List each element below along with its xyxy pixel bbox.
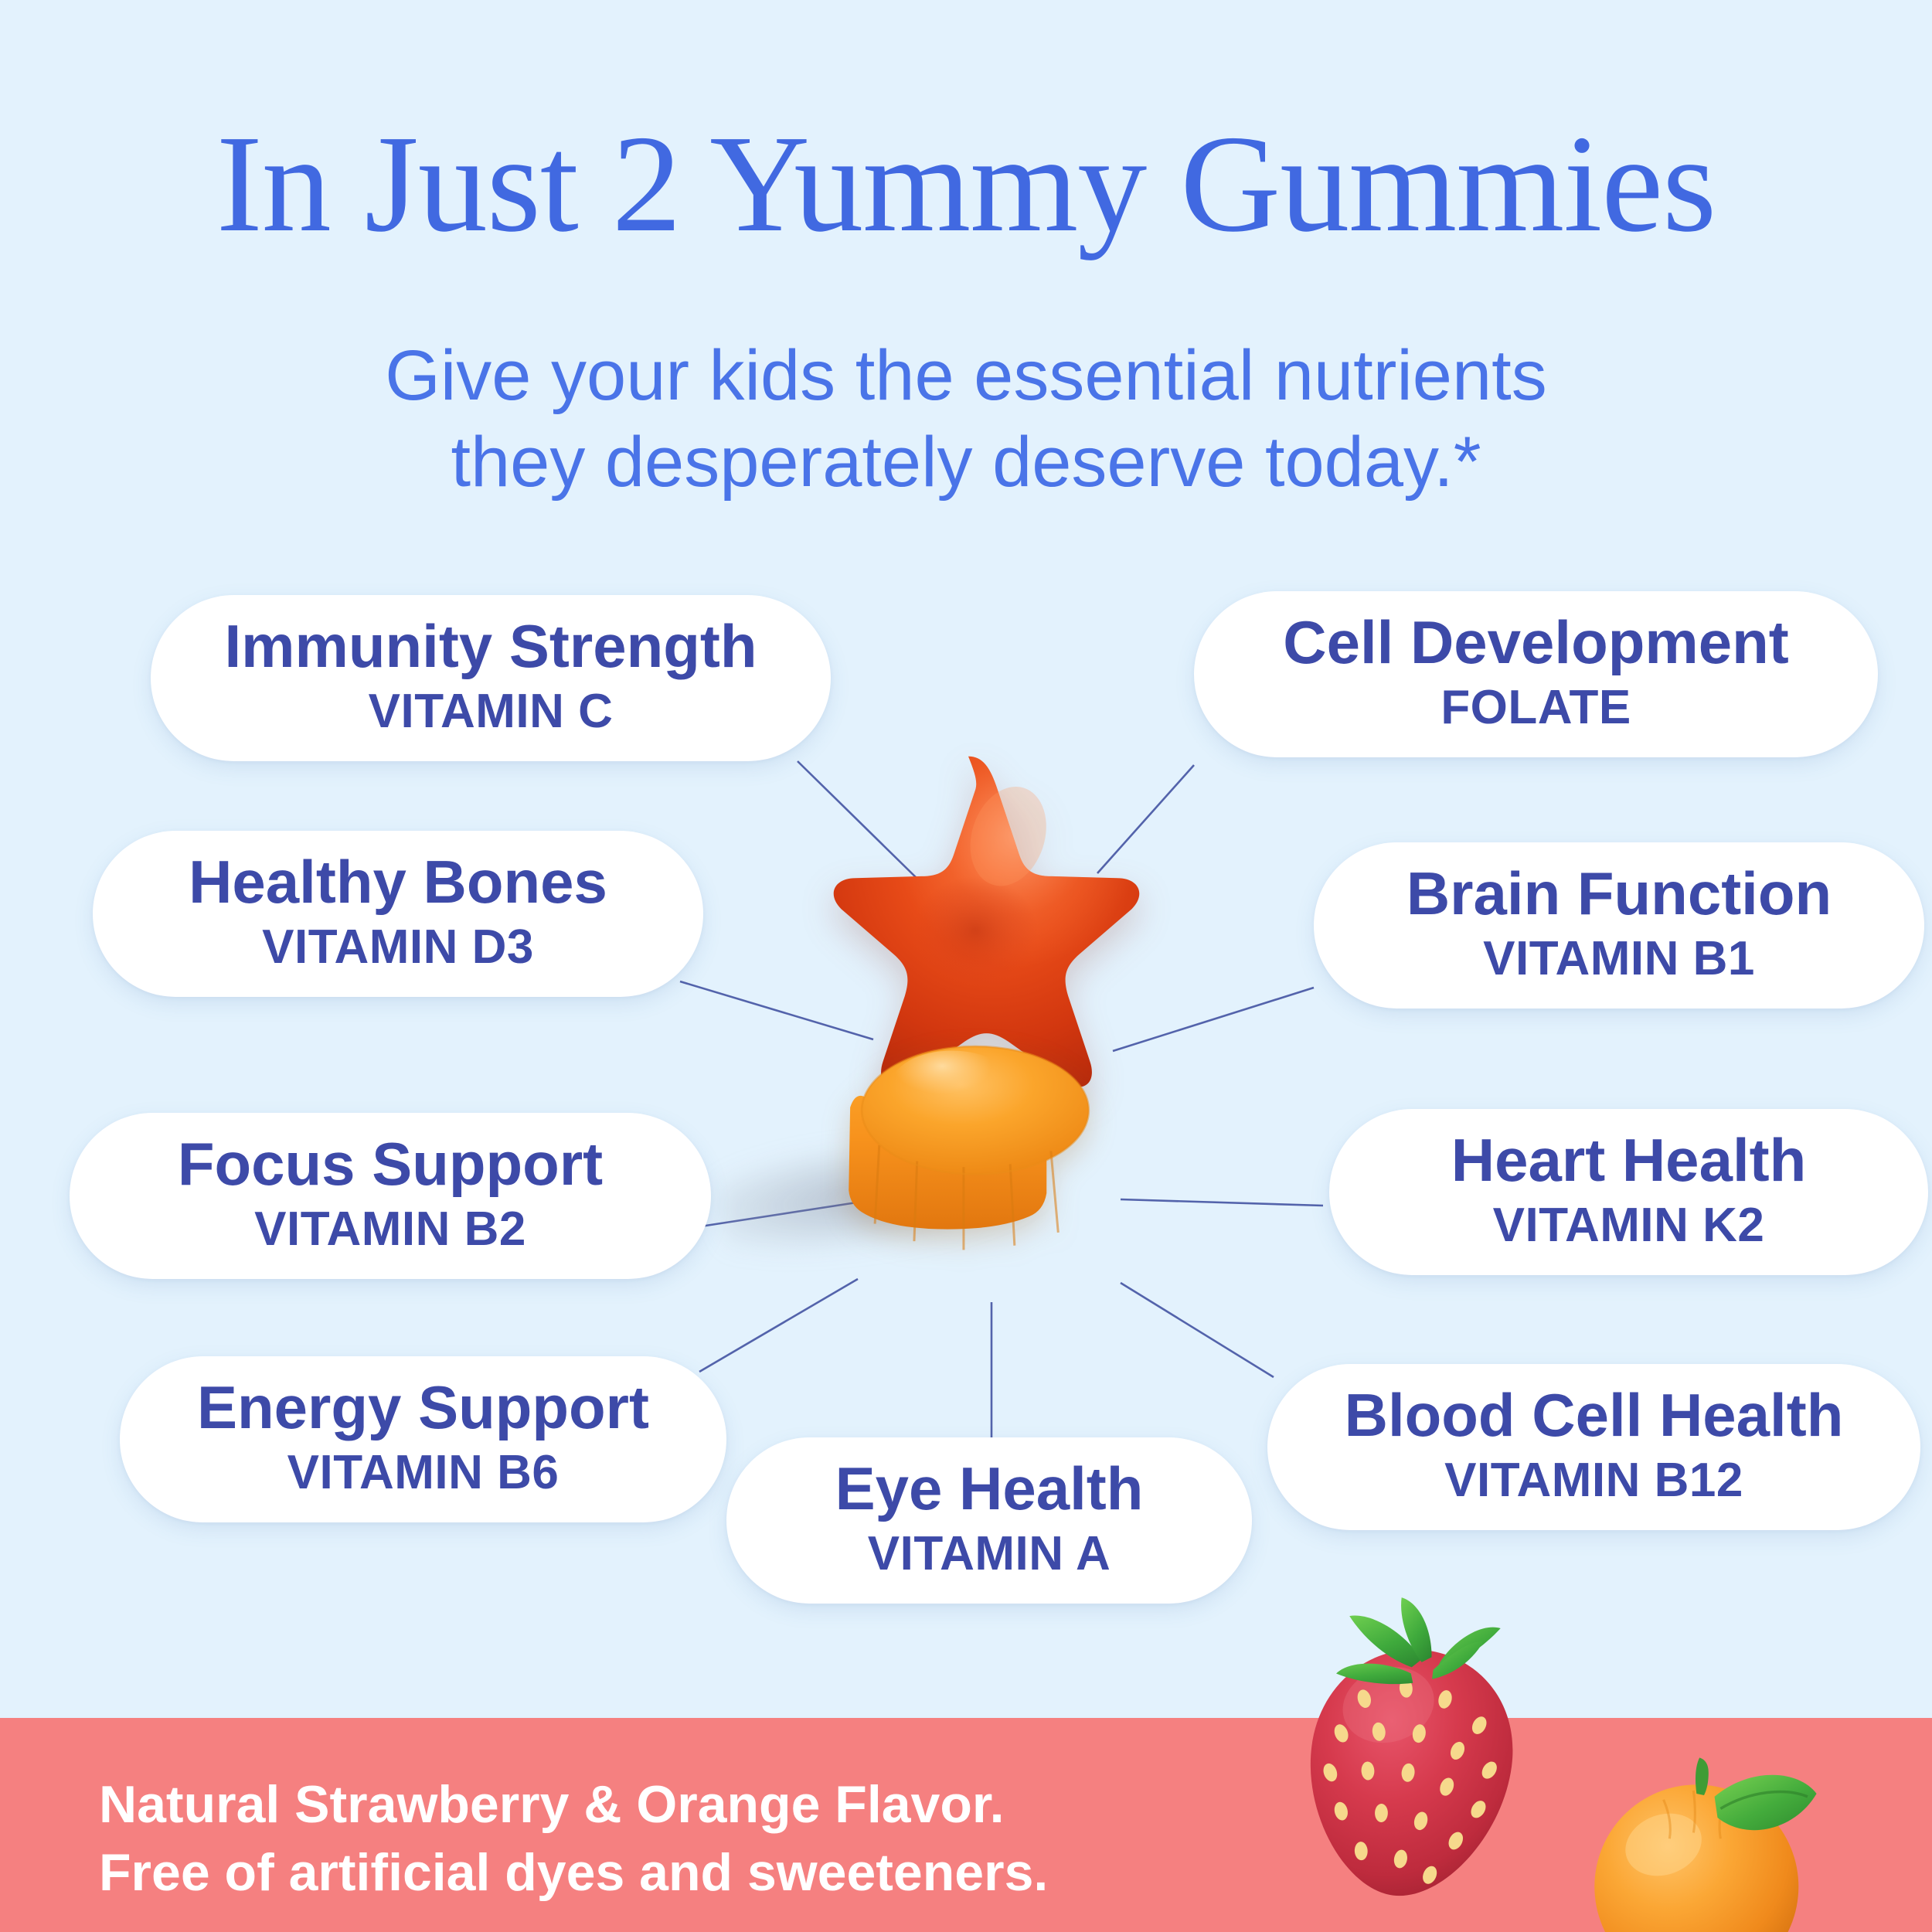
flower-gummy-orange xyxy=(828,1020,1122,1267)
benefit-title: Cell Development xyxy=(1283,611,1789,675)
banner-line-1: Natural Strawberry & Orange Flavor. xyxy=(99,1774,1005,1835)
benefit-title: Focus Support xyxy=(178,1132,603,1196)
benefit-title: Healthy Bones xyxy=(189,850,607,914)
infographic-canvas: In Just 2 Yummy Gummies Give your kids t… xyxy=(0,0,1932,1932)
benefit-pill-immunity-strength[interactable]: Immunity Strength VITAMIN C xyxy=(151,595,831,761)
benefit-title: Immunity Strength xyxy=(224,614,757,679)
benefit-nutrient: VITAMIN B2 xyxy=(254,1202,526,1256)
benefit-nutrient: VITAMIN B12 xyxy=(1444,1454,1743,1507)
banner-line-2: Free of artificial dyes and sweeteners. xyxy=(99,1842,1048,1903)
gummy-product-stack xyxy=(773,742,1175,1314)
page-subtitle: Give your kids the essential nutrients t… xyxy=(0,332,1932,505)
benefit-nutrient: VITAMIN D3 xyxy=(262,920,534,974)
benefit-pill-heart-health[interactable]: Heart Health VITAMIN K2 xyxy=(1329,1109,1928,1275)
benefit-title: Brain Function xyxy=(1406,862,1832,926)
orange-fruit-icon xyxy=(1573,1743,1835,1932)
strawberry-icon xyxy=(1265,1585,1556,1923)
subtitle-line-1: Give your kids the essential nutrients xyxy=(385,336,1546,415)
benefit-nutrient: VITAMIN B6 xyxy=(287,1446,560,1499)
subtitle-line-2: they desperately deserve today.* xyxy=(0,419,1932,505)
benefit-nutrient: VITAMIN A xyxy=(868,1527,1111,1580)
benefit-nutrient: FOLATE xyxy=(1440,681,1631,734)
benefit-nutrient: VITAMIN K2 xyxy=(1493,1199,1765,1252)
benefit-title: Energy Support xyxy=(197,1376,649,1440)
benefit-title: Blood Cell Health xyxy=(1345,1383,1844,1447)
page-title: In Just 2 Yummy Gummies xyxy=(0,114,1932,253)
benefit-nutrient: VITAMIN C xyxy=(369,685,614,738)
benefit-pill-cell-development[interactable]: Cell Development FOLATE xyxy=(1194,591,1878,757)
benefit-title: Heart Health xyxy=(1451,1128,1806,1192)
benefit-pill-healthy-bones[interactable]: Healthy Bones VITAMIN D3 xyxy=(93,831,703,997)
benefit-nutrient: VITAMIN B1 xyxy=(1483,932,1755,985)
benefit-pill-blood-cell-health[interactable]: Blood Cell Health VITAMIN B12 xyxy=(1267,1364,1920,1530)
benefit-pill-energy-support[interactable]: Energy Support VITAMIN B6 xyxy=(120,1356,726,1522)
benefit-title: Eye Health xyxy=(835,1457,1144,1521)
benefit-pill-focus-support[interactable]: Focus Support VITAMIN B2 xyxy=(70,1113,711,1279)
benefit-pill-eye-health[interactable]: Eye Health VITAMIN A xyxy=(726,1437,1252,1604)
benefit-pill-brain-function[interactable]: Brain Function VITAMIN B1 xyxy=(1314,842,1924,1009)
